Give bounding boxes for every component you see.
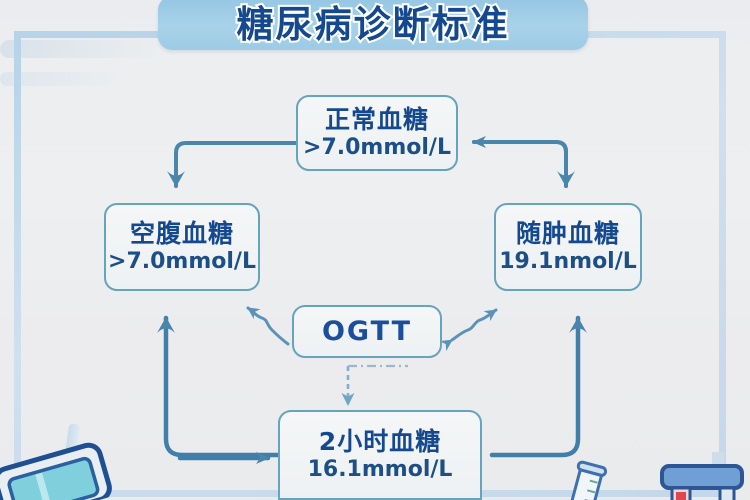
connector-normal-to-random [474,142,566,186]
blood-collection-tube-icon [660,452,746,500]
node-normal-label: 正常血糖 [325,106,429,134]
node-ogtt-label: OGTT [322,317,412,347]
node-random-value: 19.1nmol/L [499,250,637,274]
node-two-hour-blood-glucose[interactable]: 2小时血糖 16.1mmol/L [278,410,482,500]
connector-ogtt-to-fasting [248,308,288,344]
node-fasting-blood-glucose[interactable]: 空腹血糖 >7.0mmol/L [104,203,260,291]
connector-normal-to-fasting [176,143,296,186]
node-twohour-label: 2小时血糖 [319,428,441,456]
connector-ogtt-to-twohour [348,366,408,404]
node-random-blood-glucose[interactable]: 随肿血糖 19.1nmol/L [494,203,642,291]
node-ogtt[interactable]: OGTT [292,305,442,358]
node-fasting-label: 空腹血糖 [130,220,234,248]
node-fasting-value: >7.0mmol/L [108,250,256,274]
connector-twohour-to-random [492,318,578,455]
page-title: 糖尿病诊断标准 [237,6,510,43]
connector-twohour-to-fasting [166,318,278,455]
node-normal-blood-glucose[interactable]: 正常血糖 >7.0mmol/L [296,95,458,171]
node-random-label: 随肿血糖 [516,220,620,248]
node-normal-value: >7.0mmol/L [303,136,451,160]
node-twohour-value: 16.1mmol/L [308,458,453,482]
connector-random-to-normal [474,142,566,186]
title-banner: 糖尿病诊断标准 [158,0,588,50]
connector-ogtt-to-random [452,310,496,340]
